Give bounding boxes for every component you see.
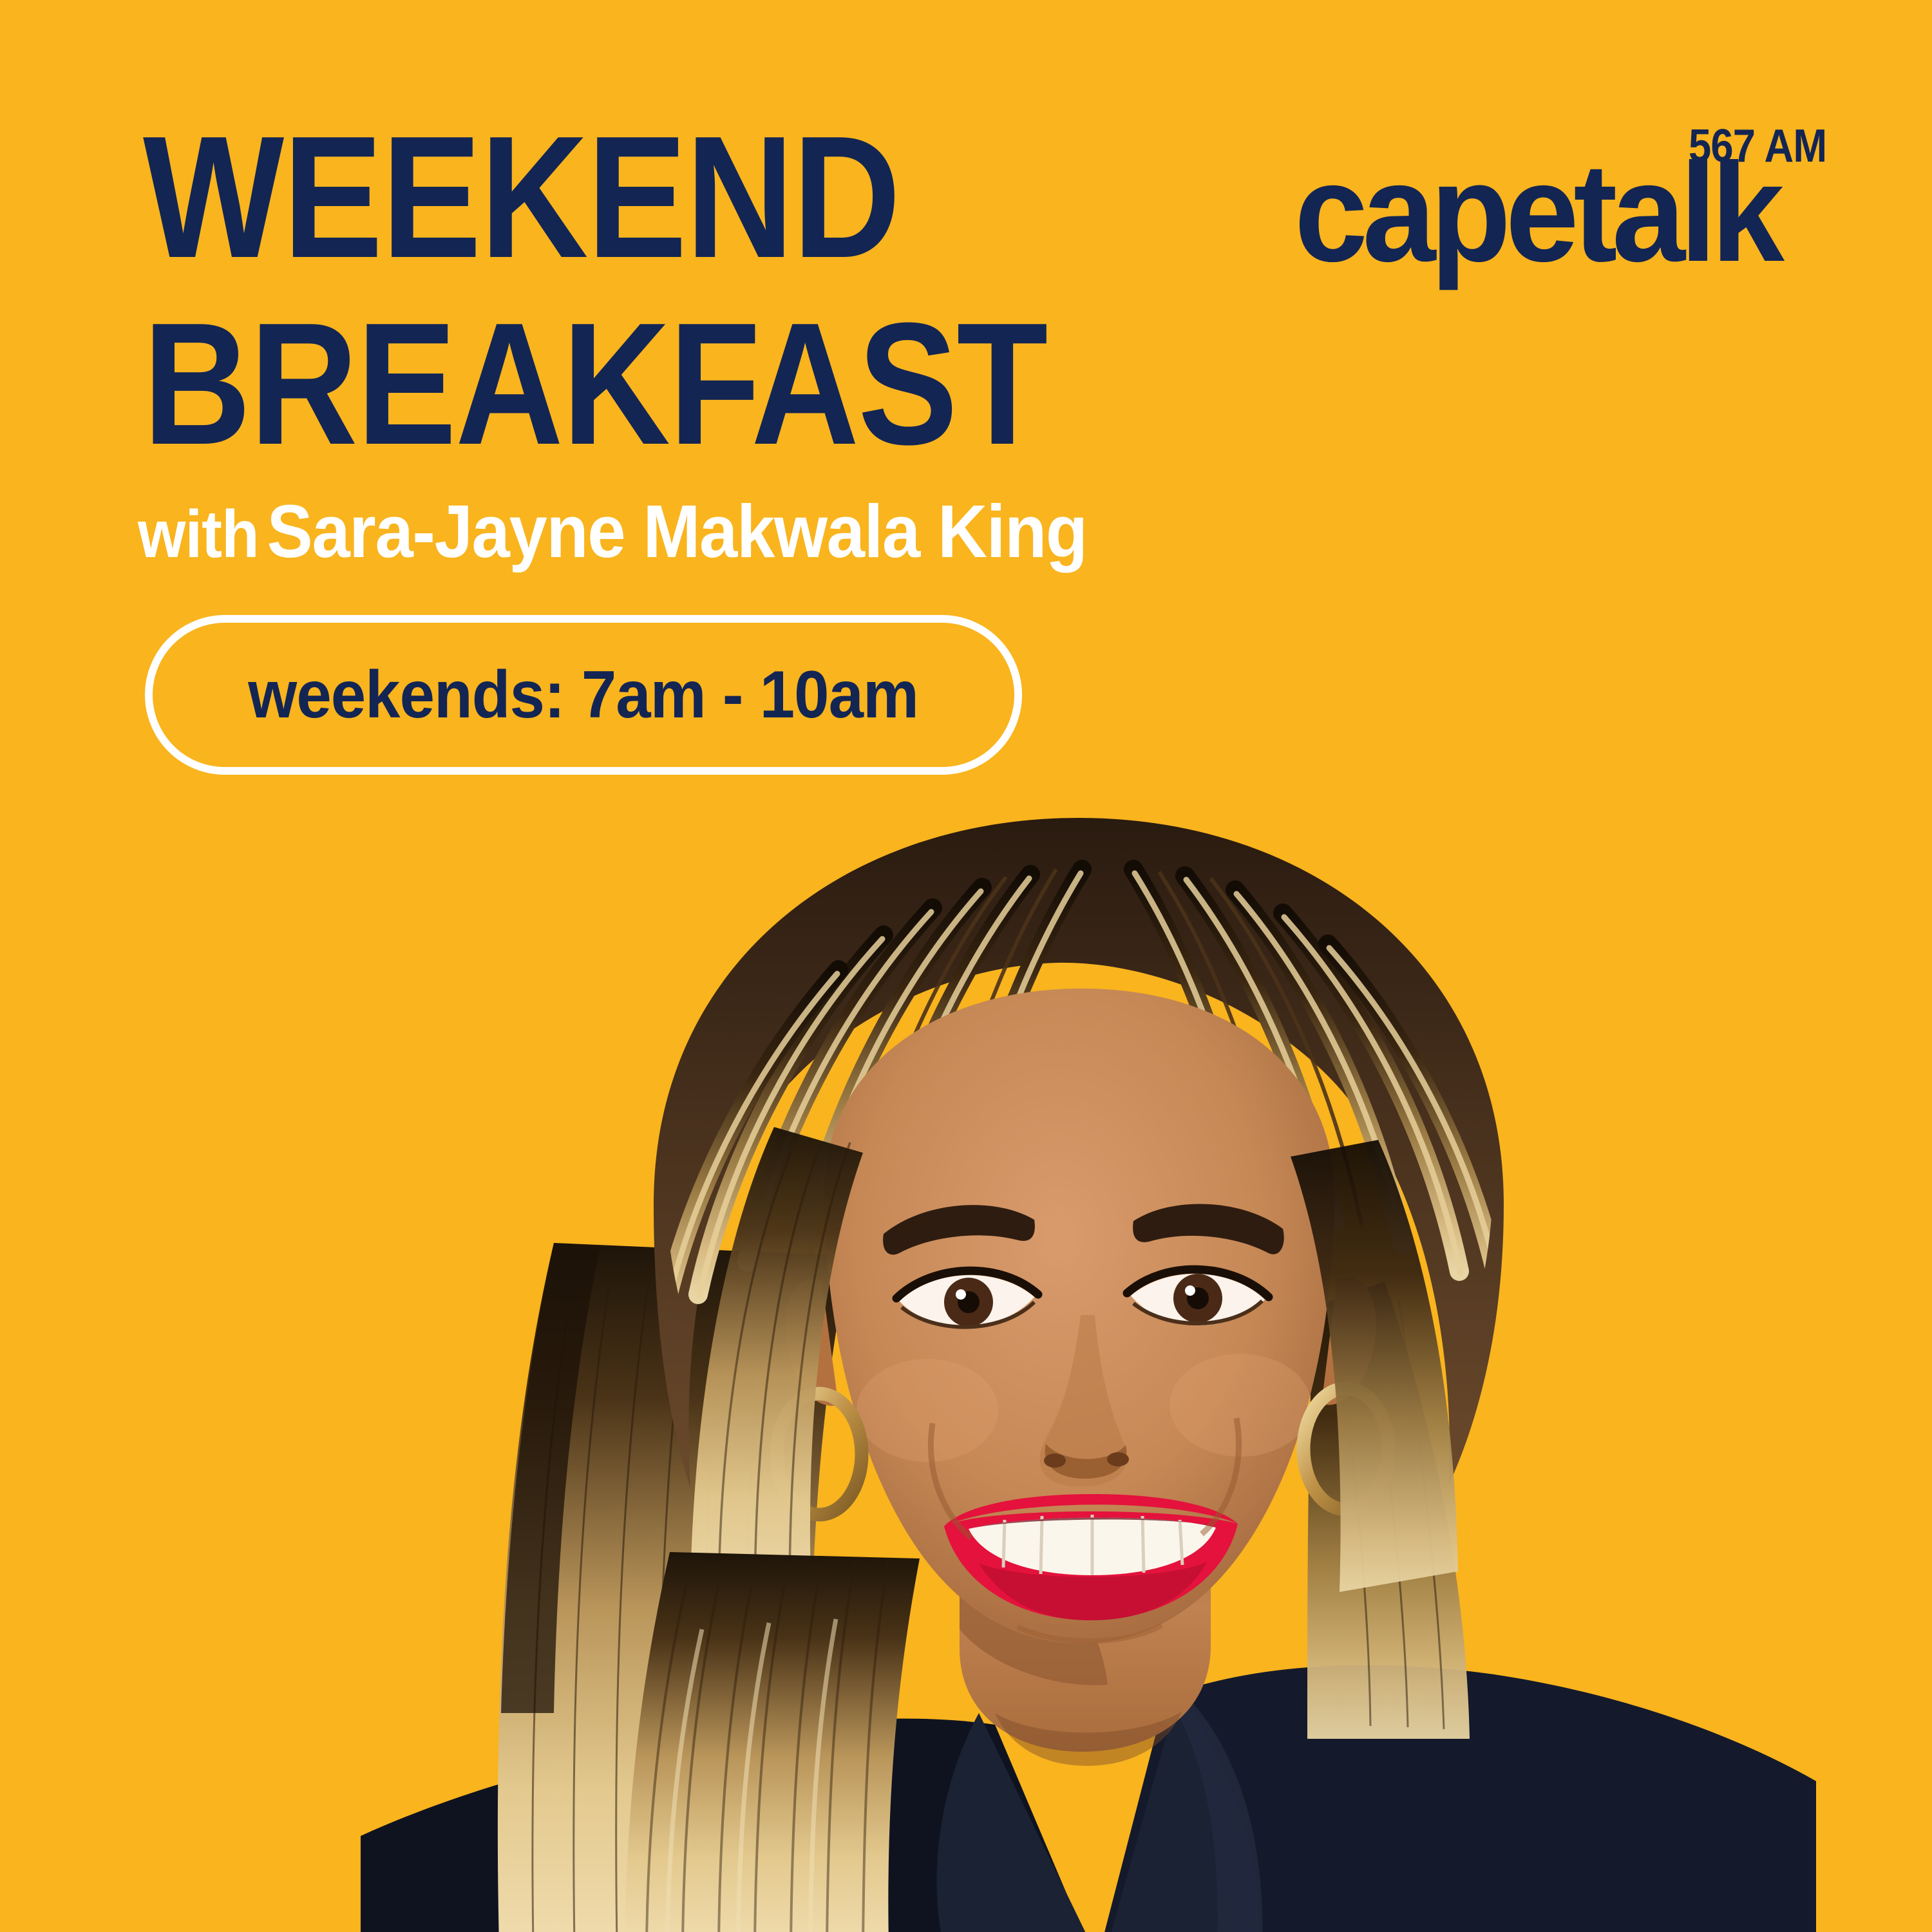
page-title: WEEKEND BREAKFAST bbox=[143, 113, 1047, 469]
capetalk-logo: capetalk 567 AM bbox=[1294, 133, 1810, 294]
host-credit: withSara-Jayne Makwala King bbox=[138, 488, 1087, 574]
title-line-2: BREAKFAST bbox=[143, 300, 1047, 469]
title-line-1: WEEKEND bbox=[143, 113, 1047, 282]
face bbox=[785, 989, 1376, 1643]
braids-over-shoulder bbox=[625, 1552, 920, 1932]
host-name: Sara-Jayne Makwala King bbox=[267, 489, 1087, 573]
schedule-badge: weekends: 7am - 10am bbox=[145, 615, 1022, 775]
schedule-text: weekends: 7am - 10am bbox=[249, 657, 919, 734]
station-frequency: 567 AM bbox=[1689, 120, 1826, 173]
host-prefix: with bbox=[138, 497, 259, 572]
host-portrait bbox=[361, 792, 1816, 1932]
show-promo-poster: WEEKEND BREAKFAST withSara-Jayne Makwala… bbox=[0, 0, 1932, 1932]
